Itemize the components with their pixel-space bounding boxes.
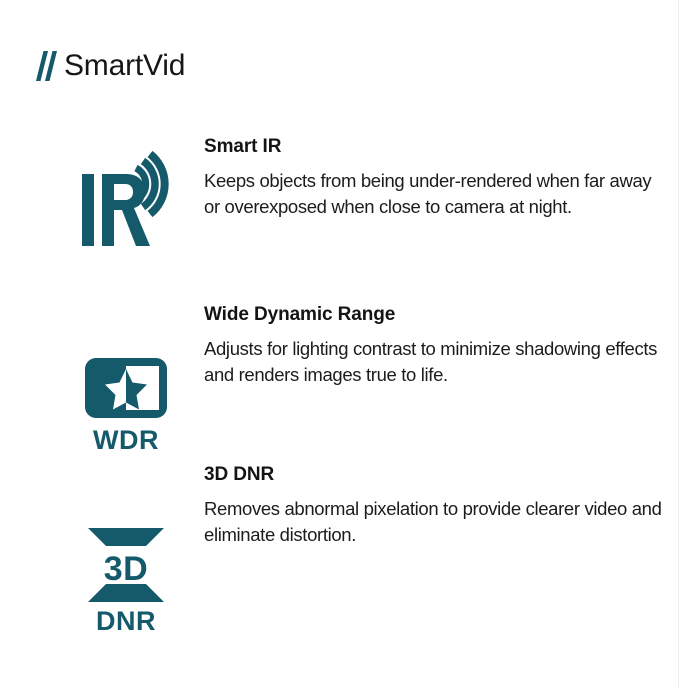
feature-title: Wide Dynamic Range [204,304,666,327]
svg-text:3D: 3D [104,550,148,588]
feature-text-wide-dynamic-range: Wide Dynamic Range Adjusts for lighting … [190,296,666,388]
feature-list: Smart IR Keeps objects from being under-… [0,128,688,616]
feature-text-3d-dnr: 3D DNR Removes abnormal pixelation to pr… [190,456,666,548]
feature-item-wide-dynamic-range: WDR Wide Dynamic Range Adjusts for light… [0,296,688,456]
wdr-half-star-icon [85,358,167,418]
feature-icon-wide-dynamic-range: WDR [62,296,190,454]
feature-icon-caption: WDR [93,427,159,454]
brand-logo: SmartVid [36,48,185,84]
feature-title: Smart IR [204,136,666,159]
brand-name: SmartVid [64,51,185,81]
feature-item-3d-dnr: 3D DNR 3D DNR Removes abnormal pixelatio… [0,456,688,616]
feature-icon-smart-ir [62,128,190,250]
feature-list-page: SmartVid Smart IR Keeps objects from [0,0,688,688]
feature-icon-3d-dnr: 3D DNR [62,456,190,635]
feature-description: Keeps objects from being under-rendered … [204,168,666,221]
feature-icon-caption: DNR [96,608,156,635]
feature-description: Adjusts for lighting contrast to minimiz… [204,336,666,389]
dnr-hourglass-icon: 3D [80,524,172,604]
feature-title: 3D DNR [204,464,666,487]
double-slash-logo-mark [36,51,58,81]
feature-description: Removes abnormal pixelation to provide c… [204,496,666,549]
feature-text-smart-ir: Smart IR Keeps objects from being under-… [190,128,666,220]
feature-item-smart-ir: Smart IR Keeps objects from being under-… [0,128,688,296]
ir-signal-icon [80,150,172,250]
